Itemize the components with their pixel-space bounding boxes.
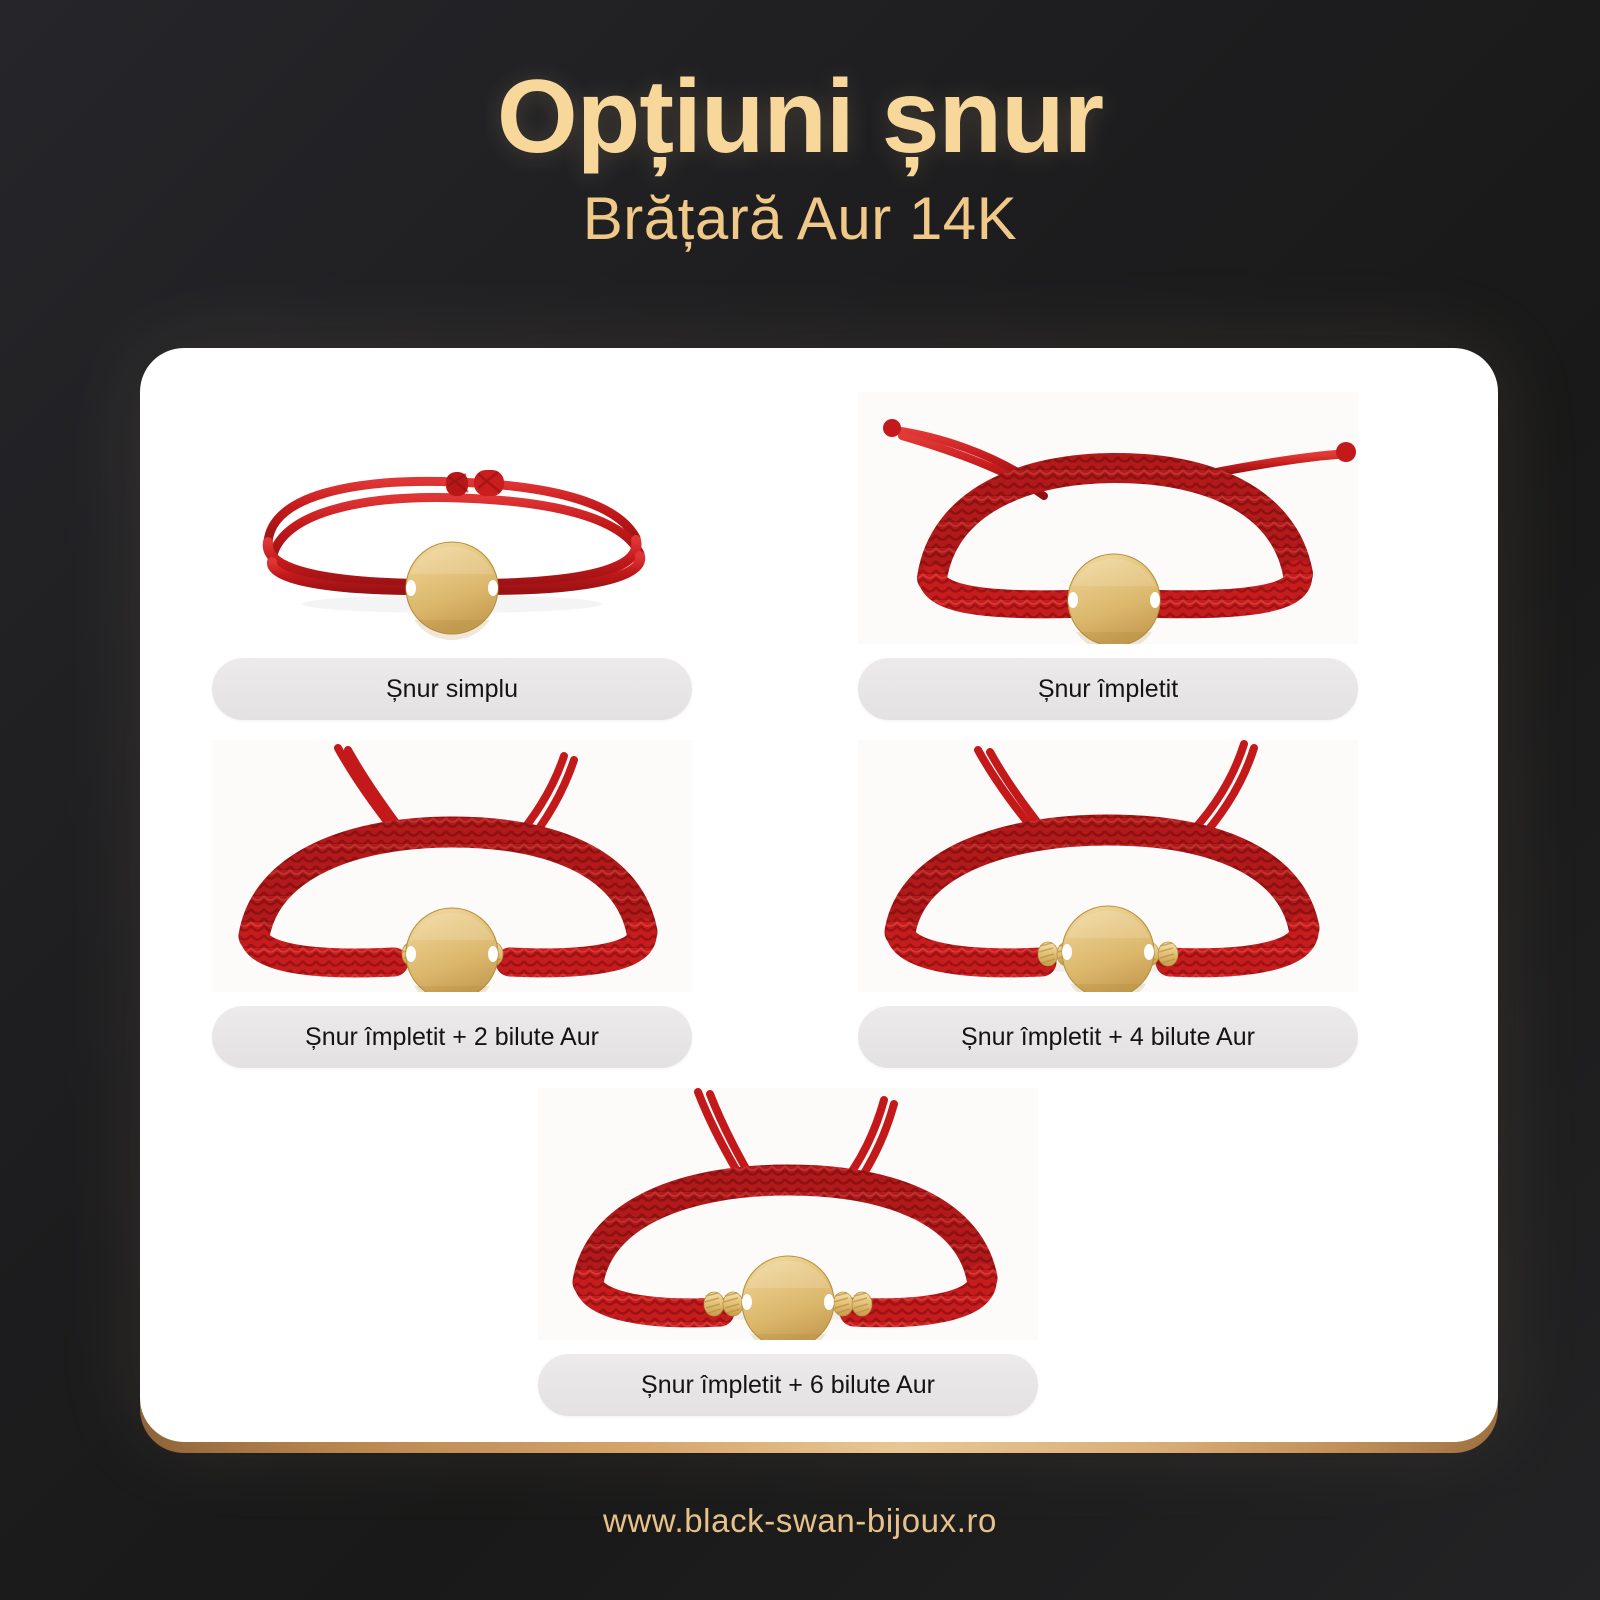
gold-disc <box>406 908 498 992</box>
product-photo-snur-impletit-4-bilute <box>858 740 1358 992</box>
option-label: Șnur împletit + 4 bilute Aur <box>858 1006 1358 1068</box>
gold-disc <box>1062 906 1154 992</box>
website-url[interactable]: www.black-swan-bijoux.ro <box>603 1502 997 1540</box>
option-card-snur-impletit[interactable]: Șnur împletit <box>858 392 1358 720</box>
option-card-snur-impletit-4-bilute[interactable]: Șnur împletit + 4 bilute Aur <box>858 740 1358 1068</box>
page-title: Opțiuni șnur <box>497 62 1103 172</box>
cord-knot <box>446 470 504 496</box>
gold-disc <box>742 1256 834 1340</box>
product-photo-snur-impletit <box>858 392 1358 644</box>
option-label: Șnur simplu <box>212 658 692 720</box>
option-card-snur-simplu[interactable]: Șnur simplu <box>212 392 692 720</box>
product-photo-snur-impletit-6-bilute <box>538 1088 1038 1340</box>
options-card: Șnur simplu <box>140 348 1498 1442</box>
option-label: Șnur împletit + 2 bilute Aur <box>212 1006 692 1068</box>
gold-disc <box>406 542 498 640</box>
options-grid: Șnur simplu <box>140 348 1498 1442</box>
product-photo-snur-simplu <box>212 392 692 644</box>
option-card-snur-impletit-6-bilute[interactable]: Șnur împletit + 6 bilute Aur <box>538 1088 1038 1416</box>
option-card-snur-impletit-2-bilute[interactable]: Șnur împletit + 2 bilute Aur <box>212 740 692 1068</box>
option-label: Șnur împletit <box>858 658 1358 720</box>
product-photo-snur-impletit-2-bilute <box>212 740 692 992</box>
gold-disc <box>1068 554 1160 644</box>
option-label: Șnur împletit + 6 bilute Aur <box>538 1354 1038 1416</box>
footer: www.black-swan-bijoux.ro <box>0 1442 1600 1600</box>
page-subtitle: Brățară Aur 14K <box>583 180 1017 258</box>
header: Opțiuni șnur Brățară Aur 14K <box>0 0 1600 330</box>
